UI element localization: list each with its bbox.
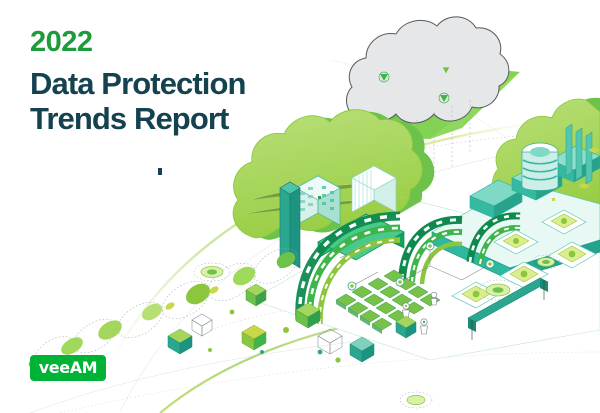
veeam-logo[interactable]: veeAM <box>30 355 106 381</box>
silo-tower <box>522 143 558 191</box>
cover-text-block: 2022 Data Protection Trends Report <box>30 28 246 136</box>
report-year: 2022 <box>30 28 246 57</box>
veeam-logo-text: veeAM <box>39 360 97 376</box>
report-title-line-2: Trends Report <box>30 101 246 136</box>
report-title-line-1: Data Protection <box>30 66 246 101</box>
report-cover: 2022 Data Protection Trends Report veeAM <box>0 0 600 413</box>
